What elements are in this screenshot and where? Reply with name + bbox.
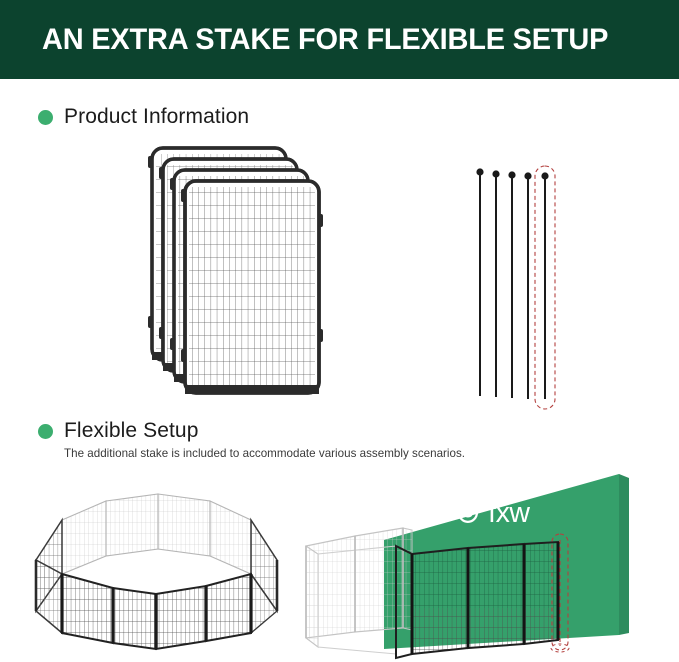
bullet-dot-icon	[38, 424, 53, 439]
fxw-logo-text: fxw	[488, 497, 530, 529]
illustration-panel-stack	[130, 140, 330, 420]
stake-2	[492, 170, 499, 397]
wall-setup-svg: fxw	[300, 462, 672, 662]
pen-panels-back	[62, 494, 251, 574]
section-heading-flexible-setup: Flexible Setup	[38, 419, 198, 443]
stake-1	[476, 168, 483, 396]
section-subtitle-flexible-setup: The additional stake is included to acco…	[64, 447, 465, 460]
section-heading-product-information: Product Information	[38, 105, 249, 129]
stakes-svg	[460, 150, 570, 420]
panel-1	[181, 181, 323, 394]
section-title-product-information: Product Information	[64, 105, 249, 129]
stake-5-highlighted	[535, 166, 555, 409]
octagon-pen-svg	[18, 478, 290, 653]
illustration-stakes	[460, 150, 570, 420]
illustration-wall-setup: fxw	[300, 462, 672, 662]
header-banner: AN EXTRA STAKE FOR FLEXIBLE SETUP	[0, 0, 679, 79]
pen-panels-right	[251, 520, 277, 633]
section-title-flexible-setup: Flexible Setup	[64, 419, 198, 443]
panel-stack-svg	[130, 140, 330, 420]
illustration-octagonal-pen	[18, 478, 290, 653]
stake-3	[508, 171, 515, 398]
stake-4	[524, 172, 531, 399]
pen-panels-left	[36, 520, 62, 633]
bullet-dot-icon	[38, 110, 53, 125]
page-title: AN EXTRA STAKE FOR FLEXIBLE SETUP	[42, 23, 608, 57]
solid-fence-panels	[396, 542, 558, 658]
